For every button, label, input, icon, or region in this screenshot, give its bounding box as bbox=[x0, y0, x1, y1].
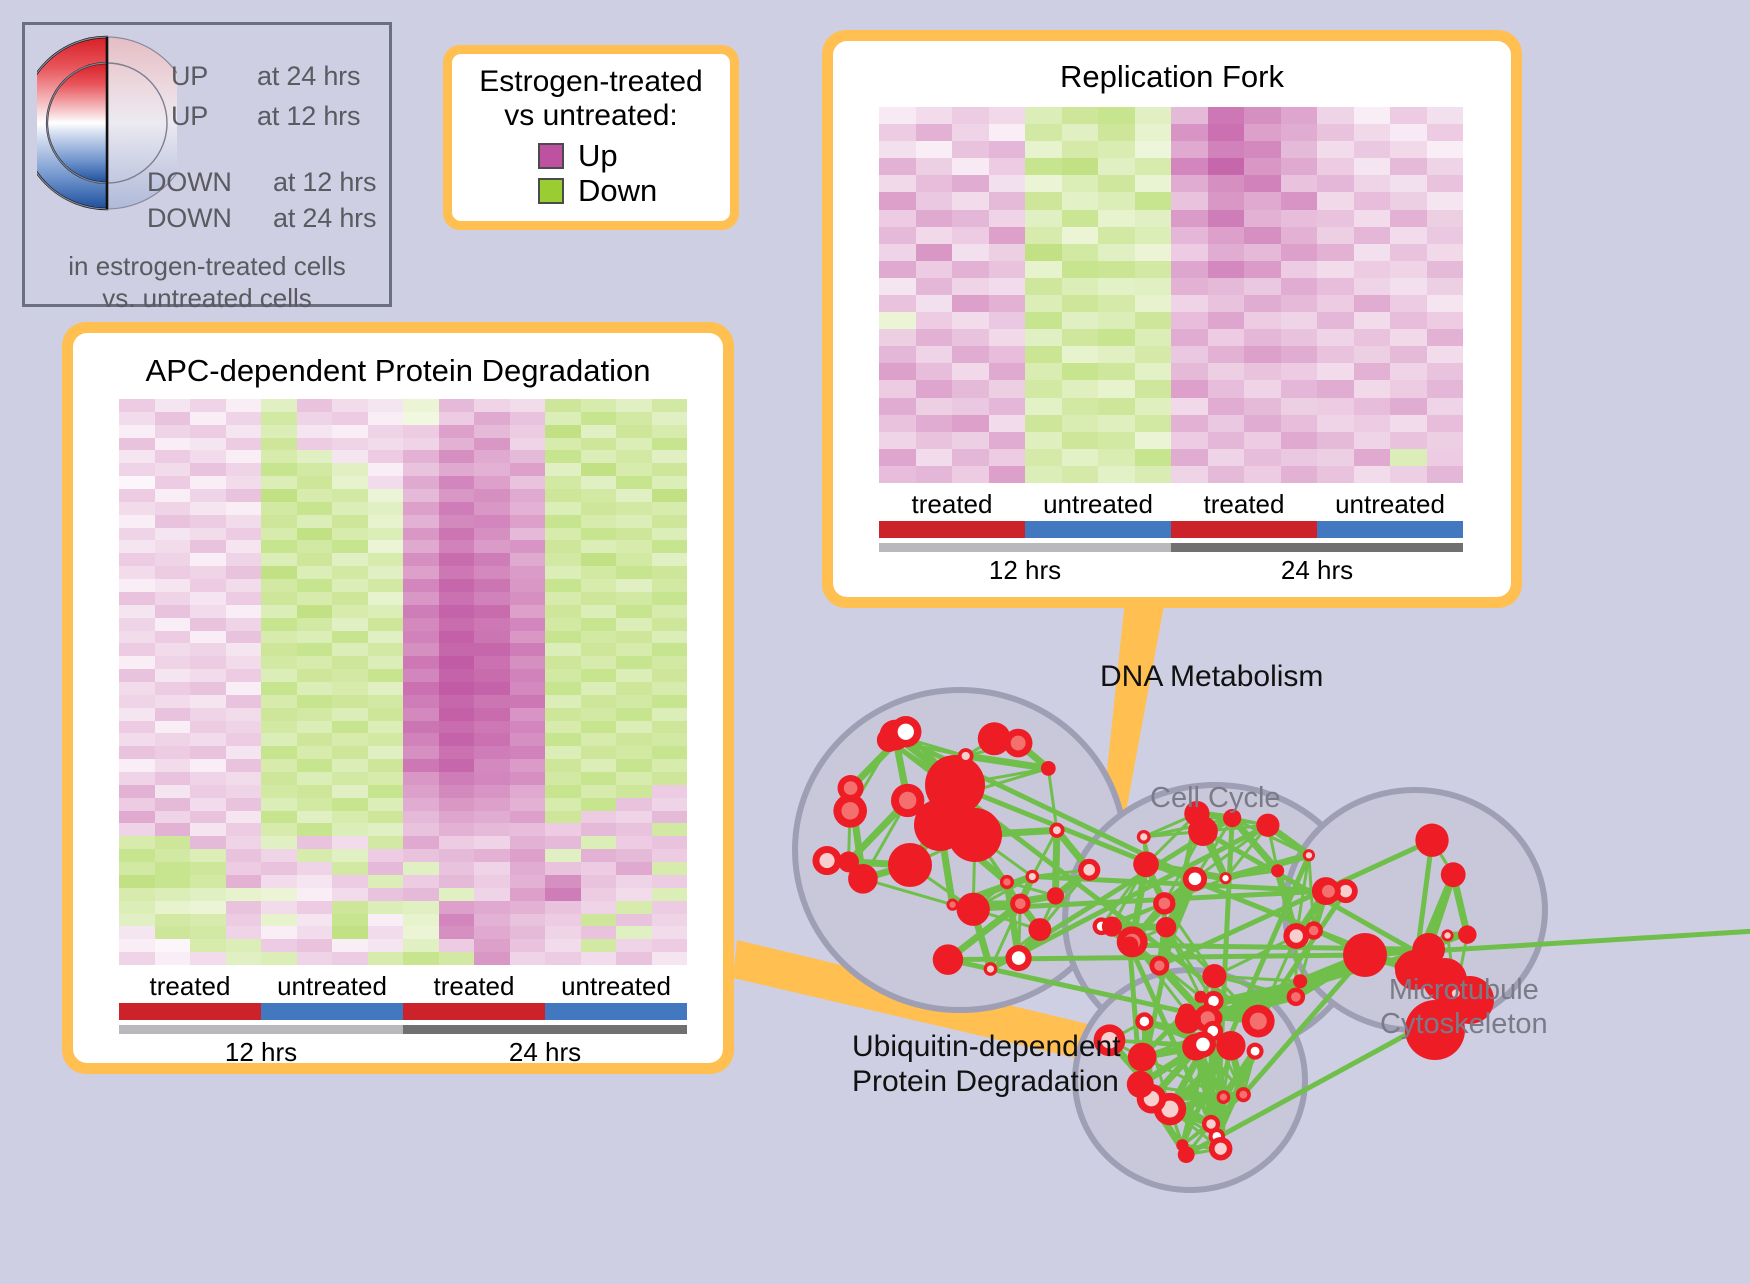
heatmap-cell bbox=[879, 329, 916, 346]
heatmap-cell bbox=[297, 862, 333, 875]
heatmap-cell bbox=[368, 888, 404, 901]
cluster-label-ubiquitin: Ubiquitin-dependent Protein Degradation bbox=[852, 1030, 1121, 1100]
heatmap-cell bbox=[510, 759, 546, 772]
network-node[interactable] bbox=[1441, 929, 1453, 941]
node-inner bbox=[987, 965, 994, 972]
heatmap-cell bbox=[261, 425, 297, 438]
heatmap-cell bbox=[1317, 141, 1354, 158]
network-node[interactable] bbox=[891, 784, 924, 817]
heatmap-cell bbox=[261, 656, 297, 669]
heatmap-cell bbox=[439, 862, 475, 875]
heatmap-cell bbox=[155, 849, 191, 862]
heatmap-cell bbox=[1025, 363, 1062, 380]
heatmap-cell bbox=[1281, 158, 1318, 175]
heatmap-cell bbox=[1427, 158, 1464, 175]
heatmap-cell bbox=[332, 849, 368, 862]
heatmap-cell bbox=[474, 798, 510, 811]
network-node[interactable] bbox=[984, 962, 998, 976]
node-outer bbox=[1343, 933, 1387, 977]
heatmap-cell bbox=[652, 476, 688, 489]
heatmap-cell bbox=[1354, 244, 1391, 261]
heatmap-cell bbox=[297, 901, 333, 914]
node-outer bbox=[1194, 991, 1206, 1003]
heatmap-cell bbox=[297, 798, 333, 811]
heatmap-cell bbox=[439, 708, 475, 721]
network-node[interactable] bbox=[1010, 893, 1030, 913]
network-node[interactable] bbox=[838, 775, 864, 801]
heatmap-cell bbox=[652, 901, 688, 914]
heatmap-cell bbox=[581, 540, 617, 553]
node-inner bbox=[1444, 932, 1450, 938]
heatmap-cell bbox=[1171, 210, 1208, 227]
legend-row-2-label: DOWN bbox=[147, 167, 232, 198]
heatmap-cell bbox=[581, 566, 617, 579]
heatmap-cell bbox=[510, 540, 546, 553]
condition-label-0: treated bbox=[879, 491, 1025, 518]
heatmap-cell bbox=[332, 425, 368, 438]
heatmap-cell bbox=[952, 124, 989, 141]
heatmap-cell bbox=[1135, 107, 1172, 124]
network-node[interactable] bbox=[1176, 1139, 1188, 1151]
heatmap-cell bbox=[119, 901, 155, 914]
heatmap-cell bbox=[1098, 192, 1135, 209]
network-node[interactable] bbox=[1194, 991, 1206, 1003]
heatmap-cell bbox=[916, 449, 953, 466]
heatmap-cell bbox=[1062, 432, 1099, 449]
network-node[interactable] bbox=[1156, 917, 1177, 938]
heatmap-cell bbox=[297, 888, 333, 901]
heatmap-cell bbox=[439, 901, 475, 914]
network-node[interactable] bbox=[1441, 862, 1466, 887]
heatmap-cell bbox=[545, 592, 581, 605]
heatmap-cell bbox=[652, 746, 688, 759]
network-node[interactable] bbox=[1293, 974, 1307, 988]
network-node[interactable] bbox=[1202, 1115, 1220, 1133]
heatmap-cell bbox=[368, 399, 404, 412]
heatmap-cell bbox=[226, 862, 262, 875]
microtubule-label-line2: Cytoskeleton bbox=[1380, 1008, 1548, 1042]
node-inner bbox=[1215, 1143, 1227, 1155]
heatmap-cell bbox=[226, 811, 262, 824]
heatmap-cell bbox=[616, 901, 652, 914]
heatmap-cell bbox=[916, 380, 953, 397]
heatmap-cell bbox=[545, 643, 581, 656]
heatmap-cell bbox=[261, 643, 297, 656]
heatmap-cell bbox=[190, 733, 226, 746]
heatmap-cell bbox=[226, 412, 262, 425]
heatmap-cell bbox=[879, 449, 916, 466]
heatmap-cell bbox=[652, 721, 688, 734]
network-node[interactable] bbox=[1287, 988, 1305, 1006]
heatmap-cell bbox=[581, 952, 617, 965]
network-node[interactable] bbox=[948, 808, 1002, 862]
heatmap-cell bbox=[652, 669, 688, 682]
heatmap-cell bbox=[1135, 175, 1172, 192]
heatmap-cell bbox=[119, 952, 155, 965]
heatmap-cell bbox=[581, 798, 617, 811]
network-node[interactable] bbox=[1006, 945, 1032, 971]
node-outer bbox=[1395, 959, 1411, 975]
heatmap-cell bbox=[474, 528, 510, 541]
heatmap-cell bbox=[119, 592, 155, 605]
node-outer bbox=[957, 893, 990, 926]
node-outer bbox=[1156, 917, 1177, 938]
network-node[interactable] bbox=[1025, 870, 1039, 884]
heatmap-cell bbox=[1062, 124, 1099, 141]
heatmap-cell bbox=[545, 438, 581, 451]
network-node[interactable] bbox=[1242, 1005, 1275, 1038]
heatmap-cell bbox=[119, 515, 155, 528]
heatmap-cell bbox=[119, 566, 155, 579]
network-node[interactable] bbox=[1415, 824, 1448, 857]
network-node[interactable] bbox=[1256, 814, 1279, 837]
network-node[interactable] bbox=[1395, 959, 1411, 975]
heatmap-cell bbox=[332, 772, 368, 785]
node-inner bbox=[898, 724, 914, 740]
heatmap-cell bbox=[439, 759, 475, 772]
heatmap-cell bbox=[155, 412, 191, 425]
network-node[interactable] bbox=[1000, 875, 1014, 889]
network-node[interactable] bbox=[1190, 1031, 1216, 1057]
heatmap-cell bbox=[1244, 363, 1281, 380]
heatmap-cell bbox=[439, 643, 475, 656]
legend-item-up: Up bbox=[538, 138, 730, 173]
heatmap-cell bbox=[916, 415, 953, 432]
heatmap-cell bbox=[510, 721, 546, 734]
heatmap-cell bbox=[474, 618, 510, 631]
heatmap-cell bbox=[616, 540, 652, 553]
network-node[interactable] bbox=[933, 944, 963, 974]
treated-bar-12 bbox=[119, 1003, 261, 1020]
heatmap-cell bbox=[403, 489, 439, 502]
network-node[interactable] bbox=[1041, 761, 1056, 776]
heatmap-cell bbox=[1208, 312, 1245, 329]
heatmap-cell bbox=[261, 463, 297, 476]
heatmap-cell bbox=[545, 540, 581, 553]
node-inner bbox=[1220, 1094, 1227, 1101]
heatmap-cell bbox=[1098, 312, 1135, 329]
network-node[interactable] bbox=[958, 748, 974, 764]
heatmap-cell bbox=[1171, 346, 1208, 363]
node-outer bbox=[1176, 1139, 1188, 1151]
heatmap-cell bbox=[439, 425, 475, 438]
heatmap-cell bbox=[1171, 244, 1208, 261]
network-node[interactable] bbox=[957, 893, 990, 926]
network-node[interactable] bbox=[888, 843, 932, 887]
network-node[interactable] bbox=[1133, 851, 1159, 877]
heatmap-cell bbox=[332, 412, 368, 425]
node-outer bbox=[1028, 918, 1051, 941]
heatmap-cell bbox=[403, 528, 439, 541]
heatmap-cell bbox=[1354, 158, 1391, 175]
node-outer bbox=[1127, 1071, 1154, 1098]
heatmap-cell bbox=[190, 836, 226, 849]
legend-footer-line2: vs. untreated cells bbox=[25, 283, 389, 315]
heatmap-cell bbox=[190, 592, 226, 605]
heatmap-cell bbox=[652, 579, 688, 592]
heatmap-cell bbox=[1025, 107, 1062, 124]
heatmap-cell bbox=[261, 450, 297, 463]
heatmap-cell bbox=[403, 566, 439, 579]
heatmap-cell bbox=[1354, 329, 1391, 346]
heatmap-cell bbox=[261, 412, 297, 425]
heatmap-cell bbox=[1317, 415, 1354, 432]
heatmap-cell bbox=[879, 415, 916, 432]
network-node[interactable] bbox=[1153, 892, 1175, 914]
network-node[interactable] bbox=[1047, 887, 1064, 904]
heatmap-cell bbox=[439, 682, 475, 695]
heatmap-cell bbox=[474, 708, 510, 721]
network-node[interactable] bbox=[1049, 823, 1064, 838]
heatmap-cell bbox=[439, 540, 475, 553]
heatmap-cell bbox=[155, 682, 191, 695]
heatmap-cell bbox=[1390, 312, 1427, 329]
heatmap-cell bbox=[439, 811, 475, 824]
heatmap-cell bbox=[403, 952, 439, 965]
heatmap-cell bbox=[1025, 466, 1062, 483]
network-node[interactable] bbox=[1004, 729, 1033, 758]
heatmap-cell bbox=[332, 643, 368, 656]
heatmap-cell bbox=[1208, 227, 1245, 244]
heatmap-cell bbox=[261, 785, 297, 798]
heatmap-cell bbox=[190, 489, 226, 502]
heatmap-cell bbox=[1025, 175, 1062, 192]
heatmap-cell bbox=[616, 438, 652, 451]
heatmap-cell bbox=[1317, 227, 1354, 244]
heatmap-cell bbox=[474, 592, 510, 605]
heatmap-cell bbox=[989, 124, 1026, 141]
heatmap-cell bbox=[226, 682, 262, 695]
legend-row-0-time: at 24 hrs bbox=[257, 61, 360, 92]
heatmap-cell bbox=[119, 914, 155, 927]
heatmap-cell bbox=[297, 631, 333, 644]
heatmap-cell bbox=[190, 785, 226, 798]
heatmap-cell bbox=[1025, 380, 1062, 397]
heatmap-cell bbox=[439, 476, 475, 489]
heatmap-cell bbox=[652, 566, 688, 579]
heatmap-cell bbox=[403, 463, 439, 476]
heatmap-cell bbox=[226, 631, 262, 644]
heatmap-cell bbox=[652, 643, 688, 656]
heatmap-cell bbox=[261, 914, 297, 927]
network-node[interactable] bbox=[1236, 1087, 1251, 1102]
heatmap-cell bbox=[510, 669, 546, 682]
heatmap-cell bbox=[1098, 415, 1135, 432]
heatmap-cell bbox=[226, 926, 262, 939]
heatmap-cell bbox=[297, 823, 333, 836]
heatmap-cell bbox=[510, 785, 546, 798]
heatmap-cell bbox=[332, 450, 368, 463]
heatmap-cell bbox=[368, 733, 404, 746]
network-node[interactable] bbox=[1219, 872, 1231, 884]
heatmap-cell bbox=[989, 141, 1026, 158]
network-node[interactable] bbox=[890, 716, 921, 747]
heatmap-cell bbox=[581, 901, 617, 914]
network-node[interactable] bbox=[1271, 864, 1284, 877]
node-outer bbox=[948, 808, 1002, 862]
legend-row-1-time: at 12 hrs bbox=[257, 101, 360, 132]
node-outer bbox=[1133, 851, 1159, 877]
heatmap-cell bbox=[1171, 107, 1208, 124]
heatmap-cell bbox=[989, 329, 1026, 346]
timepoint-label-1: 24 hrs bbox=[403, 1034, 687, 1068]
network-node[interactable] bbox=[1303, 849, 1315, 861]
heatmap-cell bbox=[1208, 380, 1245, 397]
heatmap-cell bbox=[1098, 261, 1135, 278]
network-node[interactable] bbox=[812, 846, 841, 875]
heatmap-cell bbox=[952, 227, 989, 244]
network-node[interactable] bbox=[1149, 956, 1169, 976]
network-node[interactable] bbox=[1247, 1043, 1264, 1060]
network-node[interactable] bbox=[1128, 1043, 1157, 1072]
node-outer bbox=[1293, 974, 1307, 988]
heatmap-cell bbox=[332, 438, 368, 451]
heatmap-cell bbox=[190, 515, 226, 528]
heatmap-cell bbox=[332, 836, 368, 849]
heatmap-cell bbox=[1208, 415, 1245, 432]
heatmap-cell bbox=[1354, 141, 1391, 158]
heatmap-cell bbox=[119, 823, 155, 836]
node-inner bbox=[962, 752, 970, 760]
heatmap-cell bbox=[616, 785, 652, 798]
estrogen-title-line1: Estrogen-treated bbox=[452, 65, 730, 99]
network-node[interactable] bbox=[1458, 925, 1476, 943]
heatmap-cell bbox=[119, 721, 155, 734]
network-node[interactable] bbox=[1137, 830, 1151, 844]
heatmap-cell bbox=[879, 312, 916, 329]
heatmap-cell bbox=[1098, 124, 1135, 141]
heatmap-cell bbox=[545, 811, 581, 824]
heatmap-cell bbox=[581, 708, 617, 721]
heatmap-cell bbox=[510, 631, 546, 644]
heatmap-cell bbox=[439, 746, 475, 759]
heatmap-cell bbox=[545, 566, 581, 579]
heatmap-cell bbox=[1390, 175, 1427, 192]
network-node[interactable] bbox=[1209, 1137, 1233, 1161]
heatmap-cell bbox=[1317, 107, 1354, 124]
heatmap-cell bbox=[1354, 124, 1391, 141]
network-node[interactable] bbox=[1183, 867, 1207, 891]
heatmap-cell bbox=[916, 261, 953, 278]
heatmap-cell bbox=[190, 412, 226, 425]
heatmap-cell bbox=[616, 579, 652, 592]
heatmap-cell bbox=[1025, 192, 1062, 209]
network-node[interactable] bbox=[1121, 936, 1138, 953]
heatmap-cell bbox=[510, 489, 546, 502]
heatmap-cell bbox=[652, 399, 688, 412]
node-outer bbox=[1412, 933, 1445, 966]
heatmap-cell bbox=[226, 476, 262, 489]
heatmap-cell bbox=[510, 849, 546, 862]
heatmap-cell bbox=[989, 175, 1026, 192]
node-inner bbox=[1206, 1119, 1215, 1128]
heatmap-cell bbox=[510, 888, 546, 901]
network-node[interactable] bbox=[1102, 917, 1122, 937]
heatmap-cell bbox=[403, 592, 439, 605]
heatmap-cell bbox=[155, 785, 191, 798]
heatmap-cell bbox=[332, 618, 368, 631]
network-node[interactable] bbox=[1217, 1090, 1231, 1104]
legend-row-0-label: UP bbox=[171, 61, 208, 92]
heatmap-cell bbox=[1427, 261, 1464, 278]
network-node[interactable] bbox=[1127, 1071, 1154, 1098]
heatmap-cell bbox=[1098, 175, 1135, 192]
heatmap-cell bbox=[545, 926, 581, 939]
heatmap-cell bbox=[652, 489, 688, 502]
heatmap-cell bbox=[119, 489, 155, 502]
heatmap-cell bbox=[190, 566, 226, 579]
heatmap-cell bbox=[403, 540, 439, 553]
network-node[interactable] bbox=[1412, 933, 1445, 966]
network-node[interactable] bbox=[1202, 964, 1226, 988]
heatmap-cell bbox=[616, 798, 652, 811]
network-node[interactable] bbox=[1316, 879, 1341, 904]
heatmap-cell bbox=[952, 261, 989, 278]
heatmap-cell bbox=[332, 785, 368, 798]
heatmap-cell bbox=[616, 823, 652, 836]
heatmap-cell bbox=[1025, 346, 1062, 363]
heatmap-cell bbox=[1354, 175, 1391, 192]
heatmap-cell bbox=[1171, 363, 1208, 380]
heatmap-cell bbox=[1171, 278, 1208, 295]
replication-fork-axis: treated untreated treated untreated 12 h… bbox=[879, 491, 1463, 586]
heatmap-cell bbox=[119, 759, 155, 772]
heatmap-cell bbox=[439, 450, 475, 463]
heatmap-cell bbox=[1244, 141, 1281, 158]
heatmap-cell bbox=[297, 553, 333, 566]
network-node[interactable] bbox=[1283, 923, 1309, 949]
heatmap-cell bbox=[1171, 124, 1208, 141]
network-node[interactable] bbox=[1343, 933, 1387, 977]
legend-item-down-label: Down bbox=[578, 175, 657, 206]
heatmap-cell bbox=[474, 746, 510, 759]
timepoint-color-bar bbox=[879, 543, 1463, 552]
heatmap-cell bbox=[1354, 380, 1391, 397]
heatmap-cell bbox=[190, 721, 226, 734]
heatmap-cell bbox=[1281, 363, 1318, 380]
heatmap-cell bbox=[1025, 141, 1062, 158]
heatmap-cell bbox=[510, 450, 546, 463]
heatmap-cell bbox=[616, 836, 652, 849]
condition-label-2: treated bbox=[403, 973, 545, 1000]
network-node[interactable] bbox=[1078, 859, 1100, 881]
heatmap-cell bbox=[332, 901, 368, 914]
heatmap-cell bbox=[581, 515, 617, 528]
heatmap-cell bbox=[1317, 278, 1354, 295]
heatmap-cell bbox=[1098, 141, 1135, 158]
heatmap-cell bbox=[1427, 244, 1464, 261]
heatmap-cell bbox=[1354, 278, 1391, 295]
heatmap-cell bbox=[297, 772, 333, 785]
heatmap-cell bbox=[226, 463, 262, 476]
heatmap-cell bbox=[1062, 192, 1099, 209]
heatmap-cell bbox=[1208, 107, 1245, 124]
estrogen-title-line2: vs untreated: bbox=[452, 99, 730, 133]
heatmap-cell bbox=[1025, 227, 1062, 244]
network-node[interactable] bbox=[1175, 1007, 1201, 1033]
heatmap-cell bbox=[155, 618, 191, 631]
network-node[interactable] bbox=[1028, 918, 1051, 941]
heatmap-cell bbox=[190, 669, 226, 682]
network-node[interactable] bbox=[838, 851, 859, 872]
heatmap-cell bbox=[1062, 227, 1099, 244]
heatmap-cell bbox=[581, 772, 617, 785]
network-node[interactable] bbox=[1135, 1012, 1153, 1030]
heatmap-cell bbox=[989, 107, 1026, 124]
heatmap-cell bbox=[155, 669, 191, 682]
network-node[interactable] bbox=[958, 782, 979, 803]
heatmap-cell bbox=[368, 952, 404, 965]
